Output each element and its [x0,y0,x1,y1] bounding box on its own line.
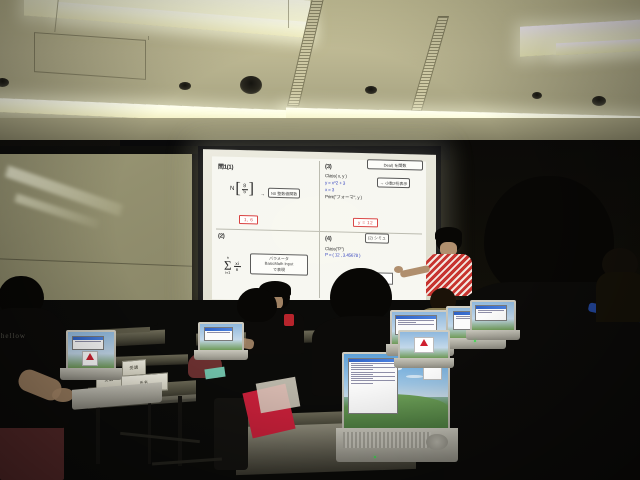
laptop-touchpad[interactable] [426,434,448,450]
power-led-icon [374,456,376,458]
laptop-far-right-lid [398,330,450,360]
laptop-right-edge-screen[interactable] [472,302,514,330]
slide-q3-code-3: Print("フォーマ", y ) [325,194,420,203]
window-text-line [351,367,395,368]
slide-q1-arrow-icon: → [260,192,265,198]
bracket-left-icon: [ [235,183,240,196]
laptop-left-bottom[interactable] [72,386,162,412]
slide-q1-answer: 1, 6 [239,215,258,224]
ceiling-access-panel [34,32,146,80]
ceiling-seam-3 [148,36,149,40]
window-text-line [398,320,433,321]
student-lf-hand [52,388,74,402]
laptop-front-center-window[interactable] [348,358,398,414]
red-triangle-icon[interactable] [414,337,433,354]
laptop-right-edge-window[interactable] [475,305,507,321]
student-c-badge [284,314,294,326]
student-rf-head [484,176,614,298]
window-titlebar [73,337,103,340]
window-text-line [351,369,373,370]
laptop-left-front-screen[interactable] [68,332,114,368]
ceiling-speaker-2 [179,82,191,90]
window-text-line [351,374,373,375]
student-cr-head [330,268,392,322]
slide-q3-callout-right: → 小数2桁表示 [377,177,410,188]
laptop-center-left-lid [198,322,244,352]
window-text-line [351,365,373,366]
laptop-far-right[interactable] [398,330,456,374]
ceiling-speaker-4 [365,86,377,94]
laptop-center-left-window[interactable] [204,327,233,341]
laptop-left-bottom-base[interactable] [72,382,162,410]
instructor-hand [394,266,403,273]
laptop-far-right-screen[interactable] [400,332,448,358]
ceiling-seam-2 [288,0,289,28]
slide-q1-expr-prefix: N [230,186,234,192]
window-titlebar [476,306,506,309]
instructor-hair [435,227,462,241]
window-text-line [351,378,373,379]
ceiling-speaker-6 [592,96,606,106]
window-text-line [207,332,230,333]
projection-screen: 問1(1) N [ 8 5 ] → N0 整数値関数 1, 6 (3) [203,149,436,313]
laptop-right-edge-lid [470,300,516,332]
slide-q2-sigma-lower: i=1 [225,272,230,276]
slide-q1-callout: N0 整数値関数 [268,188,300,199]
classroom-photo: 問1(1) N [ 8 5 ] → N0 整数値関数 1, 6 (3) [0,0,640,480]
slide-q4-code-1: P = ( 12 , 3.45678 ) [325,253,420,262]
bracket-right-icon: ] [249,183,254,196]
presentation-slide: 問1(1) N [ 8 5 ] → N0 整数値関数 1, 6 (3) [212,156,426,304]
laptop-left-front-window[interactable] [72,336,104,350]
laptop-left-front-base[interactable] [60,368,122,380]
window-text-line [351,363,395,364]
laptop-right-edge-base[interactable] [466,330,520,340]
laptop-right-edge[interactable] [470,300,522,346]
red-triangle-icon[interactable] [82,351,98,366]
desk-leg-2 [178,396,182,466]
student-bc-head [237,288,277,322]
slide-q2-sigma-expression: n Σ i=1 xi n [224,256,241,276]
ceiling-speaker-1 [0,78,9,87]
window-text-line [478,312,491,313]
laptop-center-left[interactable] [198,322,252,366]
equipment-box [118,300,158,326]
window-text-line [398,322,416,323]
window-text-line [351,380,395,381]
laptop-center-left-screen[interactable] [200,324,242,350]
ceiling-vent-2 [410,16,449,114]
slide-quadrant-1: 問1(1) N [ 8 5 ] → N0 整数値関数 1, 6 [212,156,319,230]
window-text-line [351,376,395,377]
ceiling-speaker-5 [532,92,542,99]
window-text-line [478,310,504,311]
window-text-line [75,341,101,342]
ceiling [0,0,640,150]
laptop-left-front-lid [66,330,116,370]
window-text-line [398,324,433,325]
slide-q3-answer: y = 12 [353,218,378,228]
slide-q3-callout-top: Deal) を関数 [367,159,423,171]
laptop-front-center-base[interactable] [336,428,458,462]
slide-quadrant-3: (3) Deal) を関数 Class( x, y ) y = x^2 + 3 … [319,159,426,233]
student-lf-shirt-print: Shellow [0,332,26,340]
slide-q2-term-den: n [236,267,239,272]
laptop-center-left-base[interactable] [194,350,248,360]
window-titlebar [396,316,435,319]
slide-q1-denominator: 5 [243,190,246,196]
slide-q2-callout: バラメータ BasicMath Input で表現 [250,253,308,276]
slide-q1-label: 問1(1) [218,162,313,173]
power-led-icon [474,340,476,342]
window-text-line [351,372,395,373]
slide-q4-callout: (2) シミュ [365,233,389,244]
window-titlebar [205,328,232,331]
window-text-line [351,383,373,384]
student-fr-body [596,272,640,322]
slide-q2-label: (2) [218,233,313,241]
laptop-keyboard[interactable] [343,432,431,448]
whiteboard-rail-top [0,146,200,154]
whiteboard-seam [0,258,192,267]
ceiling-speaker-3 [240,76,262,94]
laptop-far-right-base[interactable] [394,358,454,368]
laptop-left-front[interactable] [66,330,124,388]
